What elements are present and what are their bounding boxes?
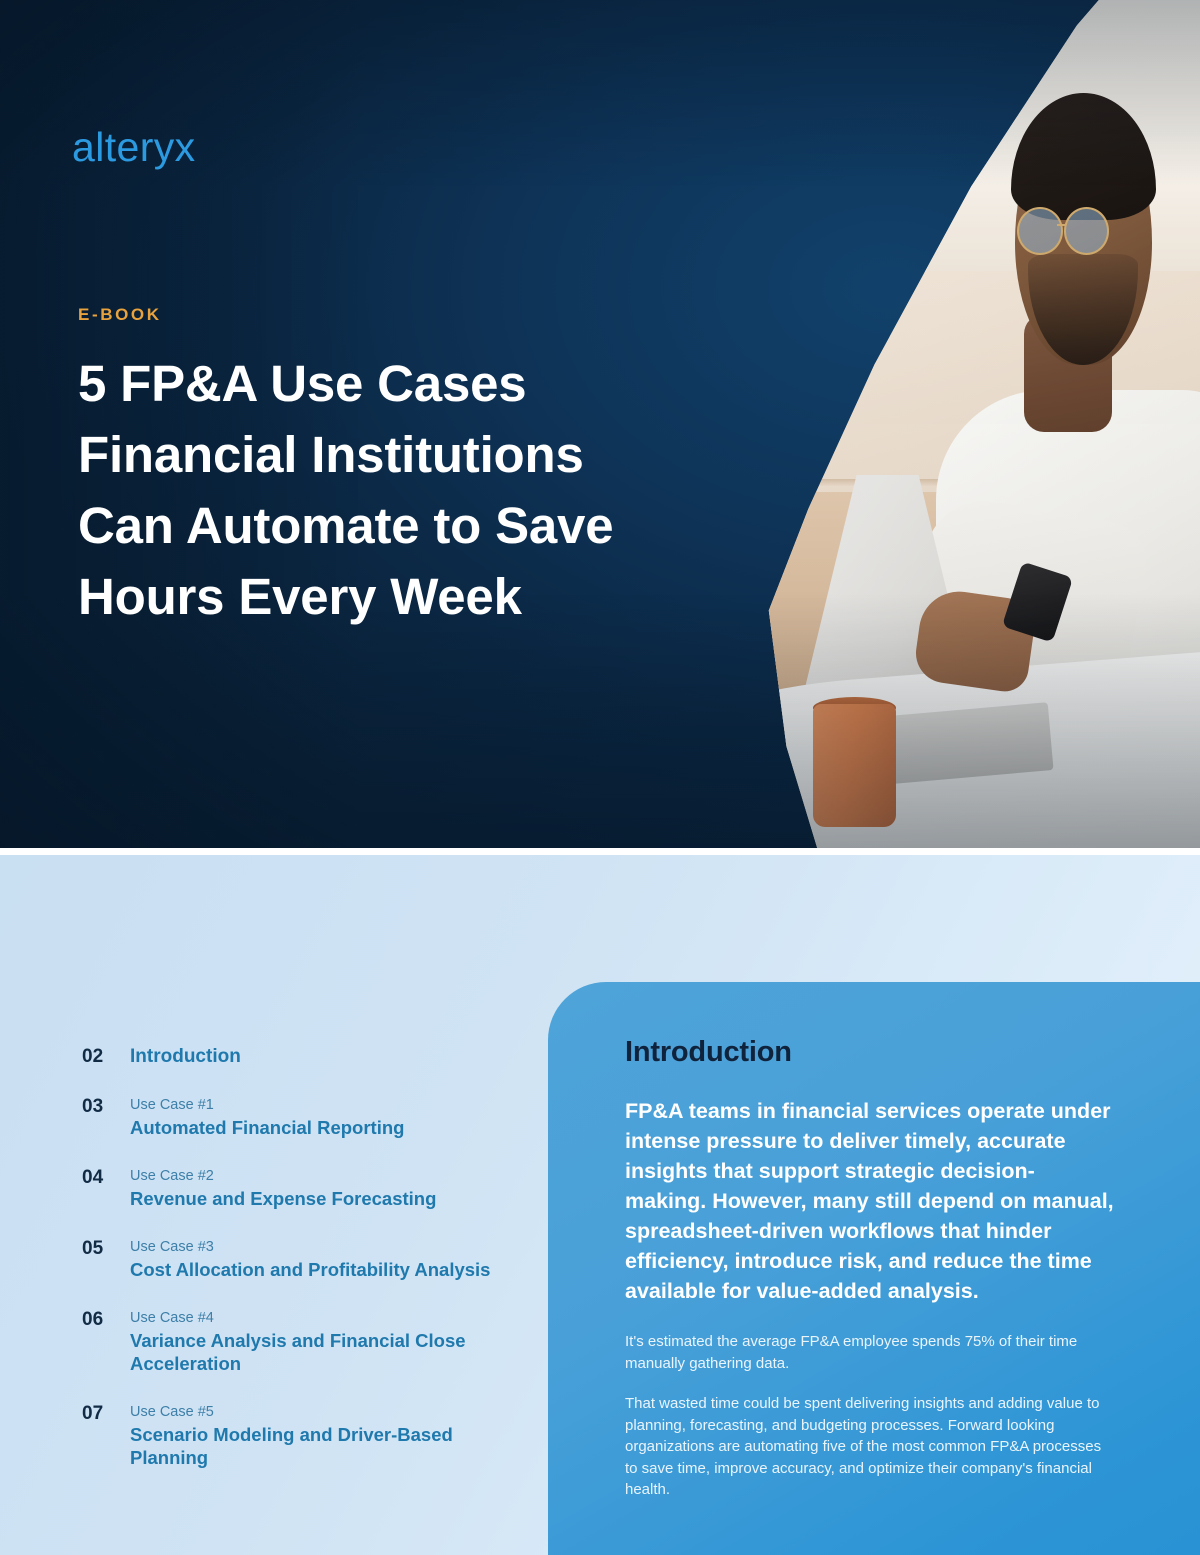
toc-item-kicker: Use Case #1 bbox=[130, 1095, 512, 1115]
hero-section: alteryx E-BOOK 5 FP&A Use Cases Financia… bbox=[0, 0, 1200, 848]
toc-item-title: Cost Allocation and Profitability Analys… bbox=[130, 1258, 512, 1281]
toc-item-use-case-5[interactable]: 07 Use Case #5 Scenario Modeling and Dri… bbox=[82, 1402, 512, 1469]
toc-item-title: Scenario Modeling and Driver-Based Plann… bbox=[130, 1423, 512, 1469]
toc-item-kicker: Use Case #3 bbox=[130, 1237, 512, 1257]
title-line-2: Financial Institutions bbox=[78, 419, 778, 490]
table-of-contents: 02 Introduction 03 Use Case #1 Automated… bbox=[82, 1045, 512, 1496]
toc-page-number: 02 bbox=[82, 1045, 130, 1068]
ebook-cover-page: alteryx E-BOOK 5 FP&A Use Cases Financia… bbox=[0, 0, 1200, 1555]
photo-eyeglass-bridge bbox=[1057, 224, 1065, 226]
photo-eyeglass-right bbox=[1064, 207, 1110, 255]
toc-item-introduction[interactable]: 02 Introduction bbox=[82, 1045, 512, 1068]
toc-page-number: 06 bbox=[82, 1308, 130, 1331]
introduction-paragraph-1: It's estimated the average FP&A employee… bbox=[625, 1331, 1114, 1374]
page-title: 5 FP&A Use Cases Financial Institutions … bbox=[78, 348, 778, 632]
toc-item-body: Use Case #4 Variance Analysis and Financ… bbox=[130, 1308, 512, 1375]
toc-page-number: 07 bbox=[82, 1402, 130, 1425]
eyebrow-label: E-BOOK bbox=[78, 305, 162, 325]
toc-item-body: Use Case #5 Scenario Modeling and Driver… bbox=[130, 1402, 512, 1469]
photo-mug bbox=[813, 704, 897, 827]
title-line-4: Hours Every Week bbox=[78, 561, 778, 632]
toc-item-title: Variance Analysis and Financial Close Ac… bbox=[130, 1329, 512, 1375]
toc-item-body: Use Case #1 Automated Financial Reportin… bbox=[130, 1095, 512, 1139]
title-line-1: 5 FP&A Use Cases bbox=[78, 348, 778, 419]
toc-item-use-case-4[interactable]: 06 Use Case #4 Variance Analysis and Fin… bbox=[82, 1308, 512, 1375]
toc-item-body: Use Case #3 Cost Allocation and Profitab… bbox=[130, 1237, 512, 1281]
toc-item-use-case-3[interactable]: 05 Use Case #3 Cost Allocation and Profi… bbox=[82, 1237, 512, 1281]
introduction-heading: Introduction bbox=[625, 1036, 1114, 1069]
toc-item-kicker: Use Case #5 bbox=[130, 1402, 512, 1422]
toc-item-body: Use Case #2 Revenue and Expense Forecast… bbox=[130, 1166, 512, 1210]
toc-item-title: Revenue and Expense Forecasting bbox=[130, 1187, 512, 1210]
toc-page-number: 05 bbox=[82, 1237, 130, 1260]
contents-section: 02 Introduction 03 Use Case #1 Automated… bbox=[0, 855, 1200, 1555]
photo-eyeglass-left bbox=[1017, 207, 1063, 255]
introduction-panel: Introduction FP&A teams in financial ser… bbox=[548, 982, 1200, 1555]
toc-item-title: Automated Financial Reporting bbox=[130, 1116, 512, 1139]
toc-item-body: Introduction bbox=[130, 1045, 512, 1068]
hero-photo bbox=[760, 0, 1200, 848]
toc-item-kicker: Use Case #4 bbox=[130, 1308, 512, 1328]
introduction-paragraph-2: That wasted time could be spent deliveri… bbox=[625, 1393, 1114, 1501]
alteryx-logo[interactable]: alteryx bbox=[72, 124, 196, 171]
toc-item-use-case-2[interactable]: 04 Use Case #2 Revenue and Expense Forec… bbox=[82, 1166, 512, 1210]
introduction-lead-paragraph: FP&A teams in financial services operate… bbox=[625, 1096, 1114, 1306]
title-line-3: Can Automate to Save bbox=[78, 490, 778, 561]
toc-item-use-case-1[interactable]: 03 Use Case #1 Automated Financial Repor… bbox=[82, 1095, 512, 1139]
toc-item-title: Introduction bbox=[130, 1045, 512, 1068]
toc-page-number: 04 bbox=[82, 1166, 130, 1189]
toc-item-kicker: Use Case #2 bbox=[130, 1166, 512, 1186]
toc-page-number: 03 bbox=[82, 1095, 130, 1118]
